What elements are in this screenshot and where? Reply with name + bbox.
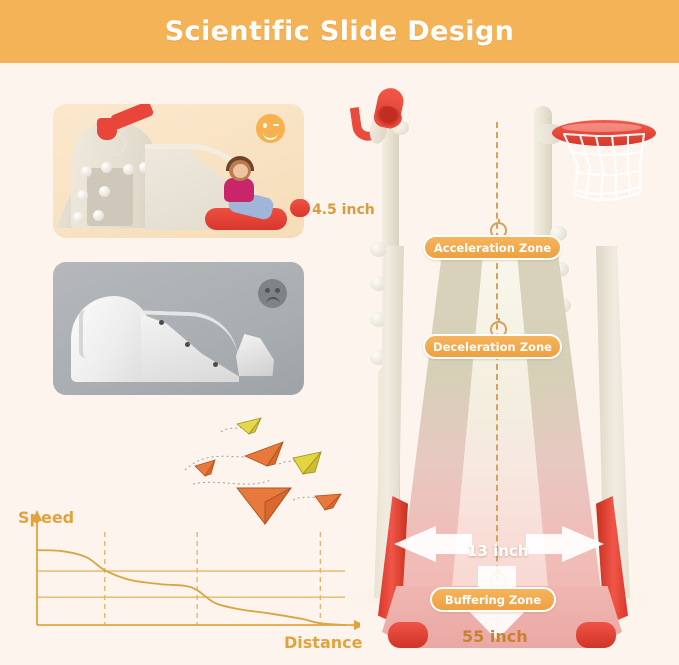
basketball-net-icon: [560, 132, 650, 210]
tower-knob-icon: [93, 210, 104, 221]
tower-knob-icon: [101, 162, 112, 173]
product-photo: 13 inch 55 inch Acceleration Zone Decele…: [330, 66, 679, 665]
header-banner: Scientific Slide Design: [0, 0, 679, 63]
tower-knob-icon: [81, 166, 92, 177]
zone-badge-buffering: Buffering Zone: [430, 587, 556, 612]
slide-foot-left: [388, 622, 428, 648]
measurement-13-inch: 13 inch: [467, 542, 529, 560]
tower-knob-icon: [123, 164, 134, 175]
tower-knob-icon: [77, 190, 88, 201]
page-title: Scientific Slide Design: [165, 16, 515, 47]
hoop-rim-highlight: [562, 123, 642, 132]
speed-distance-chart: Speed Distance: [0, 500, 360, 665]
infographic-canvas: Scientific Slide Design 4.5 inch: [0, 0, 679, 665]
chart-y-axis-label: Speed: [18, 508, 74, 527]
tower-knob-icon: [99, 186, 110, 197]
zone-badge-acceleration: Acceleration Zone: [423, 235, 562, 260]
paper-plane-orange-large: [245, 442, 283, 466]
falling-child: [236, 334, 274, 376]
slide-base-marker: [290, 199, 310, 217]
tower-knob-icon: [73, 212, 84, 223]
paper-plane-orange-small: [195, 460, 215, 476]
child-face: [233, 164, 248, 178]
zone-badge-deceleration: Deceleration Zone: [423, 334, 562, 359]
paper-plane-yellow-small: [237, 418, 261, 434]
paper-plane-yellow-mid: [293, 452, 321, 474]
slide-foot-right: [576, 622, 616, 648]
measurement-55-inch: 55 inch: [462, 627, 528, 646]
frowning-face-icon: [258, 279, 287, 308]
motion-dot: [213, 362, 218, 367]
motion-dot: [185, 342, 190, 347]
motion-dot: [159, 320, 164, 325]
smiling-face-icon: [256, 114, 285, 143]
child-body: [224, 178, 254, 202]
